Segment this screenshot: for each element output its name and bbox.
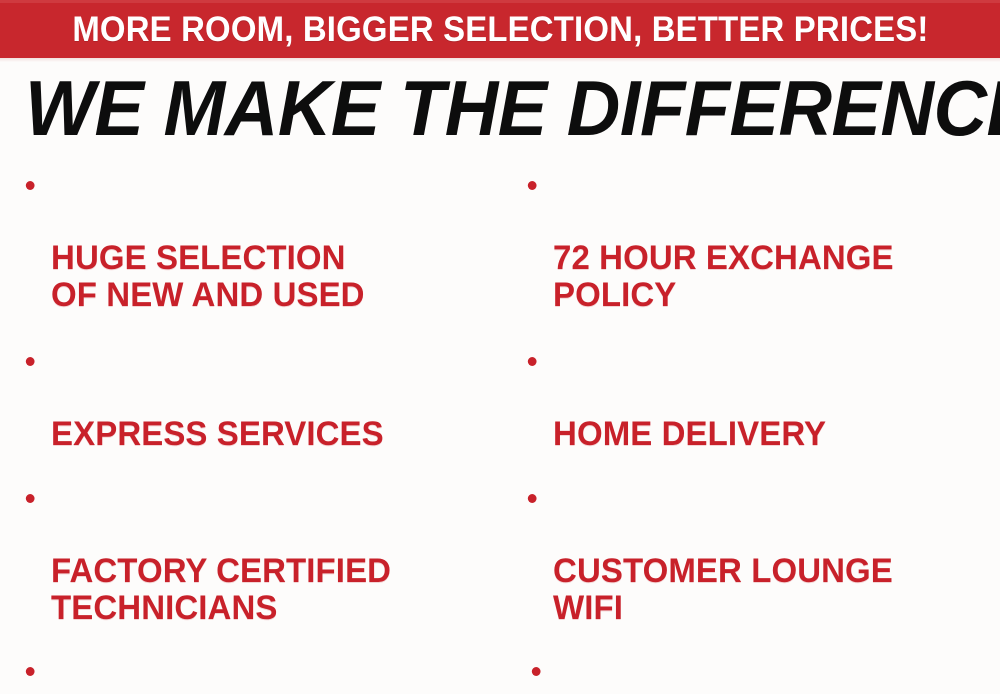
bullet-dot-icon [532, 667, 541, 676]
strip-highlight-edge [0, 0, 1000, 3]
list-item-label: CUSTOMER LOUNGE WIFI [553, 552, 893, 627]
list-item-label: EXPRESS SERVICES [51, 415, 384, 453]
list-item: HUGE SELECTION OF NEW AND USED [20, 166, 486, 314]
list-item: HOME DELIVERY [522, 342, 986, 453]
strip-underline-divider [0, 58, 1000, 62]
list-item: CUSTOMER LOUNGE WIFI [522, 479, 986, 627]
benefits-column-left: HUGE SELECTION OF NEW AND USED EXPRESS S… [0, 162, 500, 694]
bullet-dot-icon [26, 667, 35, 676]
bullet-dot-icon [528, 494, 537, 503]
list-item: 72 HOUR EXCHANGE POLICY [522, 166, 986, 314]
list-item-label: FACTORY CERTIFIED TECHNICIANS [51, 552, 391, 627]
top-announcement-strip: MORE ROOM, BIGGER SELECTION, BETTER PRIC… [0, 0, 1000, 58]
bullet-dot-icon [26, 357, 35, 366]
list-item: EXPRESS SERVICES [20, 342, 486, 453]
bullet-dot-icon [528, 357, 537, 366]
bullet-dot-icon [26, 181, 35, 190]
list-item: COMPLIMENTARY LOANER CARS [20, 652, 486, 694]
list-item: FACTORY CERTIFIED TECHNICIANS [20, 479, 486, 627]
page-title: WE MAKE THE DIFFERENCE [25, 70, 975, 146]
benefits-column-right: 72 HOUR EXCHANGE POLICY HOME DELIVERY CU… [500, 162, 1000, 694]
bullet-dot-icon [528, 181, 537, 190]
list-item-label: HOME DELIVERY [553, 415, 826, 453]
top-strip-headline: MORE ROOM, BIGGER SELECTION, BETTER PRIC… [72, 12, 928, 47]
list-item-label: 72 HOUR EXCHANGE POLICY [553, 239, 894, 314]
list-item: MILITARY DISCOUNTS [526, 652, 986, 694]
benefits-columns: HUGE SELECTION OF NEW AND USED EXPRESS S… [0, 162, 1000, 694]
promo-banner: MORE ROOM, BIGGER SELECTION, BETTER PRIC… [0, 0, 1000, 694]
bullet-dot-icon [26, 494, 35, 503]
list-item-label: HUGE SELECTION OF NEW AND USED [51, 239, 365, 314]
